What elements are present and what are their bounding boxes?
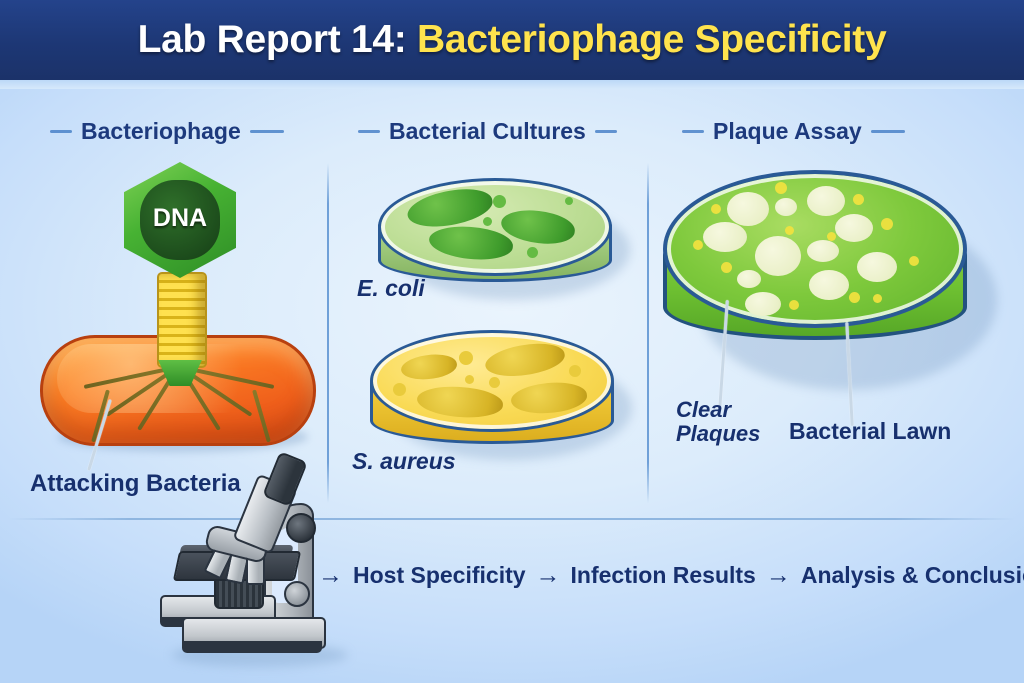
dash-right-icon xyxy=(595,130,617,133)
flow-step-infection-results: Infection Results xyxy=(571,562,756,589)
colony xyxy=(428,224,514,262)
label-clear-plaques: Clear Plaques xyxy=(676,398,760,446)
bacteriophage-illustration: DNA xyxy=(30,160,330,450)
colony-speck xyxy=(493,195,506,208)
dash-left-icon xyxy=(358,130,380,133)
dash-right-icon xyxy=(871,130,905,133)
label-clear-plaques-line2: Plaques xyxy=(676,422,760,446)
colony xyxy=(416,385,503,419)
lawn-speck xyxy=(909,256,919,266)
colony-speck xyxy=(489,377,500,388)
colony xyxy=(510,379,589,417)
plaque xyxy=(807,186,845,216)
colony-speck xyxy=(483,217,492,226)
header-underglow xyxy=(0,80,1024,89)
colony-speck xyxy=(459,351,473,365)
colony xyxy=(404,182,495,233)
colony-speck xyxy=(465,375,474,384)
lawn-speck xyxy=(873,294,882,303)
poster-canvas: Lab Report 14: Bacteriophage Specificity… xyxy=(0,0,1024,683)
plaque xyxy=(775,198,797,216)
dish-agar-surface xyxy=(378,178,612,276)
plaque xyxy=(857,252,897,282)
microscope-focus-wheel xyxy=(286,513,316,543)
colony-speck xyxy=(527,247,538,258)
lawn-speck xyxy=(853,194,864,205)
dash-right-icon xyxy=(250,130,284,133)
header-bar: Lab Report 14: Bacteriophage Specificity xyxy=(0,0,1024,80)
colony-speck xyxy=(393,383,406,396)
plaque xyxy=(809,270,849,300)
section-label: Plaque Assay xyxy=(713,118,862,145)
colony xyxy=(483,338,567,381)
page-title: Lab Report 14: Bacteriophage Specificity xyxy=(138,18,887,62)
lawn-speck xyxy=(721,262,732,273)
lawn-speck xyxy=(785,226,794,235)
plaque xyxy=(807,240,839,262)
petri-dish-saureus xyxy=(370,330,620,460)
label-ecoli: E. coli xyxy=(357,275,425,302)
colony xyxy=(400,351,459,383)
lawn-speck xyxy=(693,240,703,250)
colony-speck xyxy=(565,197,573,205)
panel-divider-2 xyxy=(647,163,649,503)
plaque xyxy=(745,292,781,316)
section-header-plaque-assay: Plaque Assay xyxy=(682,118,905,145)
lawn-speck xyxy=(881,218,893,230)
arrow-icon: → xyxy=(318,563,343,588)
section-header-bacterial-cultures: Bacterial Cultures xyxy=(358,118,617,145)
dash-left-icon xyxy=(50,130,72,133)
plaque xyxy=(727,192,769,226)
label-clear-plaques-line1: Clear xyxy=(676,398,760,422)
process-flow: → Host Specificity → Infection Results →… xyxy=(318,562,1024,589)
tail-sheath xyxy=(157,272,207,368)
dash-left-icon xyxy=(682,130,704,133)
petri-dish-plaque-assay xyxy=(663,170,983,390)
microscope-foot xyxy=(182,641,322,653)
section-label: Bacterial Cultures xyxy=(389,118,586,145)
section-label: Bacteriophage xyxy=(81,118,241,145)
plaque xyxy=(835,214,873,242)
arrow-icon: → xyxy=(766,563,791,588)
plaque xyxy=(703,222,747,252)
dish-agar-surface xyxy=(370,330,614,432)
flow-step-host-specificity: Host Specificity xyxy=(353,562,526,589)
plaque xyxy=(737,270,761,288)
dish-lawn-surface xyxy=(663,170,967,328)
microscope-fine-focus xyxy=(284,581,310,607)
dna-label: DNA xyxy=(140,204,220,233)
title-part-1: Lab Report 14: xyxy=(138,18,407,61)
colony-speck xyxy=(569,365,581,377)
lawn-speck xyxy=(789,300,799,310)
lawn-speck xyxy=(711,204,721,214)
arrow-icon: → xyxy=(536,563,561,588)
flow-step-analysis-conclusions: Analysis & Conclusions xyxy=(801,562,1024,589)
lawn-speck xyxy=(849,292,860,303)
section-header-bacteriophage: Bacteriophage xyxy=(50,118,284,145)
lawn-speck xyxy=(775,182,787,194)
microscope-eyepiece xyxy=(262,451,308,507)
title-part-2: Bacteriophage Specificity xyxy=(417,18,886,61)
lawn-speck xyxy=(827,232,836,241)
label-bacterial-lawn: Bacterial Lawn xyxy=(789,418,951,445)
plaque xyxy=(755,236,801,276)
label-saureus: S. aureus xyxy=(352,448,456,475)
